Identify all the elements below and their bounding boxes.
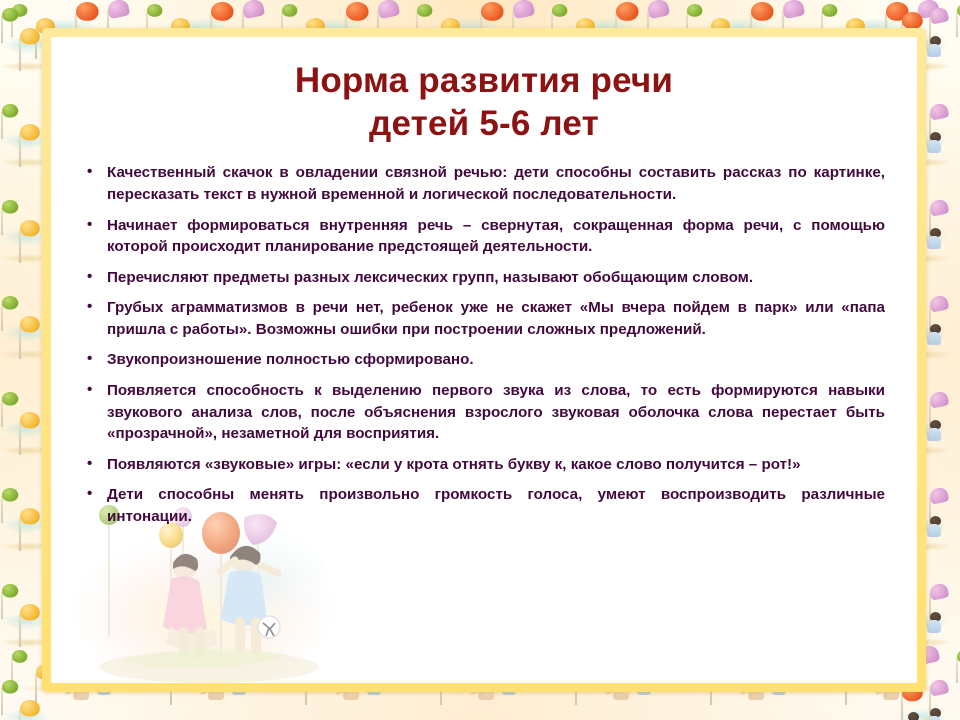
list-item: Появляется способность к выделению перво… [69, 380, 885, 445]
bullet-list: Качественный скачок в овладении связной … [51, 145, 917, 527]
content-panel: Норма развития речи детей 5-6 лет Качест… [42, 28, 926, 692]
list-item: Качественный скачок в овладении связной … [69, 162, 885, 205]
page-title: Норма развития речи детей 5-6 лет [51, 37, 917, 145]
list-item: Звукопроизношение полностью сформировано… [69, 349, 885, 371]
slide: Норма развития речи детей 5-6 лет Качест… [0, 0, 960, 720]
list-item: Начинает формироваться внутренняя речь –… [69, 215, 885, 258]
list-item: Появляются «звуковые» игры: «если у крот… [69, 454, 885, 476]
list-item: Дети способны менять произвольно громкос… [69, 484, 885, 527]
list-item: Грубых аграмматизмов в речи нет, ребенок… [69, 297, 885, 340]
list-item: Перечисляют предметы разных лексических … [69, 267, 885, 289]
content-panel-inner: Норма развития речи детей 5-6 лет Качест… [51, 37, 917, 683]
